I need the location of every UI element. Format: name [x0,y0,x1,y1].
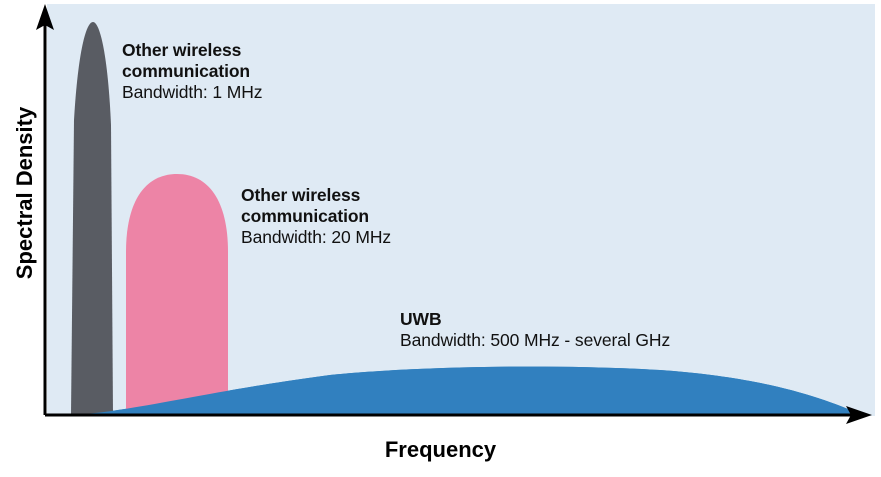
annotation-title-line1: UWB [400,309,670,330]
annotation-narrowband-1mhz: Other wireless communication Bandwidth: … [122,40,262,103]
x-axis-label: Frequency [0,437,881,463]
annotation-uwb: UWB Bandwidth: 500 MHz - several GHz [400,309,670,351]
annotation-bandwidth: Bandwidth: 1 MHz [122,82,262,103]
annotation-title-line1: Other wireless [241,185,391,206]
annotation-bandwidth: Bandwidth: 20 MHz [241,227,391,248]
annotation-title-line1: Other wireless [122,40,262,61]
annotation-narrowband-20mhz: Other wireless communication Bandwidth: … [241,185,391,248]
annotation-bandwidth: Bandwidth: 500 MHz - several GHz [400,330,670,351]
narrowband-20mhz-spectrum-shape [126,174,228,415]
y-axis-label: Spectral Density [12,93,38,293]
spectral-density-diagram: Other wireless communication Bandwidth: … [0,0,881,477]
annotation-title-line2: communication [122,61,262,82]
narrowband-1mhz-spectrum-shape [71,22,113,415]
annotation-title-line2: communication [241,206,391,227]
